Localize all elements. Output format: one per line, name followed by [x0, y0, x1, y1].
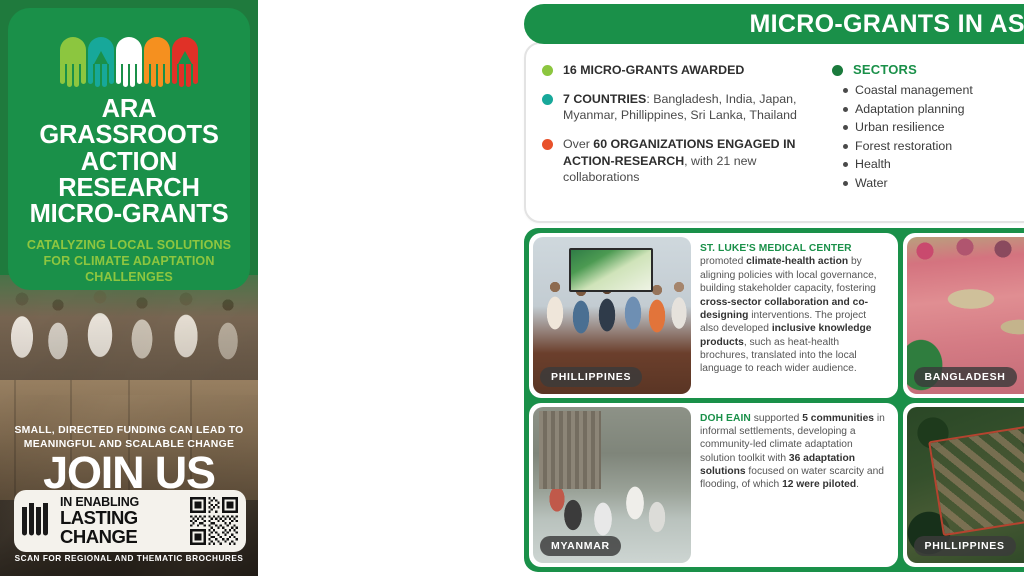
stat-item-organizations: Over 60 ORGANIZATIONS ENGAGED IN ACTION-… — [542, 136, 824, 184]
qr-code[interactable] — [190, 497, 238, 545]
lasting-change-badge: IN ENABLING LASTING CHANGE — [14, 490, 246, 552]
sector-item: Coastal management — [843, 81, 1024, 100]
scan-instruction: SCAN FOR REGIONAL AND THEMATIC BROCHURES — [0, 554, 258, 563]
ara-hands-logo — [56, 26, 202, 88]
stats-list: 16 MICRO-GRANTS AWARDED 7 COUNTRIES: Ban… — [542, 62, 824, 209]
summary-panel: ASIA-PACIFIC 16 MICRO-GRANTS AWARDED 7 C… — [524, 28, 1024, 223]
country-tag: BANGLADESH — [914, 367, 1017, 387]
stat-text-grants: 16 MICRO-GRANTS AWARDED — [563, 62, 744, 78]
case-body: supported 5 communities in informal sett… — [700, 413, 885, 491]
sectors-heading: SECTORS — [853, 62, 917, 77]
country-tag: PHILLIPPINES — [540, 367, 642, 387]
country-tag: MYANMAR — [540, 536, 621, 556]
presentation-screen — [569, 248, 653, 292]
stat-item-countries: 7 COUNTRIES: Bangladesh, India, Japan, M… — [542, 91, 824, 123]
stat-text-organizations: Over 60 ORGANIZATIONS ENGAGED IN ACTION-… — [563, 136, 824, 184]
shack-structure — [539, 411, 601, 489]
sector-item: Adaptation planning — [843, 100, 1024, 119]
sector-item: Forest restoration — [843, 137, 1024, 156]
sector-item: Health — [843, 155, 1024, 174]
page-title: MICRO-GRANTS IN ASIA — [750, 10, 1024, 39]
stat-bold-countries: 7 COUNTRIES — [563, 92, 646, 106]
photo-flooded-settlement: MYANMAR — [533, 407, 691, 564]
settlement-boundary-outline — [928, 425, 1024, 535]
bullet-dot-teal — [542, 94, 553, 105]
stat-prefix-organizations: Over — [563, 137, 593, 151]
stat-bold-organizations: 60 ORGANIZATIONS ENGAGED IN ACTION-RESEA… — [563, 137, 795, 167]
case-card-cpe: BANGLADESH CENTER FOR PEOPLE AND ENVIRON… — [903, 233, 1024, 398]
page-title-bar: MICRO-GRANTS IN ASIA — [524, 4, 1024, 44]
photo-aerial-settlement: PHILLIPPINES — [907, 407, 1024, 564]
photo-clinic-group: PHILLIPPINES — [533, 237, 691, 394]
brand-card: ARA GRASSROOTS ACTION RESEARCH MICRO-GRA… — [8, 8, 250, 290]
bullet-dot-orange — [542, 139, 553, 150]
qr-code-svg — [190, 497, 238, 545]
bullet-dot-green — [542, 65, 553, 76]
badge-text-block: IN ENABLING LASTING CHANGE — [60, 496, 184, 546]
badge-line-3: CHANGE — [60, 528, 184, 547]
case-body: promoted climate-health action by aligni… — [700, 256, 877, 374]
case-org-name: ST. LUKE'S MEDICAL CENTER — [700, 243, 852, 254]
photo-shital-pati-mats: BANGLADESH — [907, 237, 1024, 394]
case-card-st-lukes: PHILLIPPINES ST. LUKE'S MEDICAL CENTER p… — [529, 233, 898, 398]
ara-hands-logo-svg — [56, 26, 202, 88]
case-card-doh-eain: MYANMAR DOH EAIN supported 5 communities… — [529, 403, 898, 568]
sector-item: Water — [843, 174, 1024, 193]
stat-item-grants: 16 MICRO-GRANTS AWARDED — [542, 62, 824, 78]
case-studies-grid: PHILLIPPINES ST. LUKE'S MEDICAL CENTER p… — [524, 228, 1024, 572]
sectors-block: SECTORS Coastal management Adaptation pl… — [832, 62, 1024, 209]
case-org-name: DOH EAIN — [700, 413, 751, 424]
badge-line-2: LASTING — [60, 509, 184, 528]
sectors-list: Coastal management Adaptation planning U… — [832, 81, 1024, 193]
stat-bold-grants: 16 MICRO-GRANTS AWARDED — [563, 63, 744, 77]
brand-subtitle: CATALYZING LOCAL SOLUTIONS FOR CLIMATE A… — [20, 238, 238, 286]
case-text-doh-eain: DOH EAIN supported 5 communities in info… — [693, 407, 894, 564]
country-tag: PHILLIPPINES — [914, 536, 1016, 556]
barcode-mark-icon — [20, 501, 54, 541]
stats-card: 16 MICRO-GRANTS AWARDED 7 COUNTRIES: Ban… — [524, 42, 1024, 223]
left-brand-panel: ARA GRASSROOTS ACTION RESEARCH MICRO-GRA… — [0, 0, 258, 576]
barcode-mark-svg — [20, 501, 54, 541]
sector-item: Urban resilience — [843, 118, 1024, 137]
brand-title: ARA GRASSROOTS ACTION RESEARCH MICRO-GRA… — [13, 96, 245, 227]
sectors-header-row: SECTORS — [832, 62, 1024, 77]
case-card-tampei: PHILLIPPINES TECHNICAL ASSISTANCE MOVEME… — [903, 403, 1024, 568]
right-content-area: MICRO-GRANTS IN ASIA — [258, 0, 1024, 576]
join-us-heading: JOIN US — [0, 450, 258, 495]
bullet-dot-darkgreen — [832, 65, 843, 76]
infographic-root: ARA GRASSROOTS ACTION RESEARCH MICRO-GRA… — [0, 0, 1024, 576]
case-text-st-lukes: ST. LUKE'S MEDICAL CENTER promoted clima… — [693, 237, 894, 394]
stat-text-countries: 7 COUNTRIES: Bangladesh, India, Japan, M… — [563, 91, 824, 123]
